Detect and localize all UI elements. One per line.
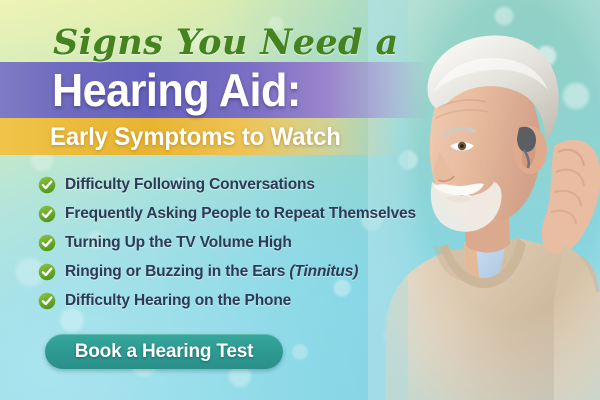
- list-item-label: Difficulty Hearing on the Phone: [65, 292, 291, 310]
- list-item-label-emphasis: (Tinnitus): [289, 263, 358, 280]
- list-item: Turning Up the TV Volume High: [38, 228, 416, 257]
- list-item: Difficulty Following Conversations: [38, 170, 416, 199]
- list-item: Difficulty Hearing on the Phone: [38, 286, 416, 315]
- hearing-aid-promo-banner: Signs You Need a Hearing Aid: Early Symp…: [0, 0, 600, 400]
- list-item-label: Turning Up the TV Volume High: [65, 234, 292, 252]
- list-item-label: Ringing or Buzzing in the Ears (Tinnitus…: [65, 263, 358, 281]
- list-item: Ringing or Buzzing in the Ears (Tinnitus…: [38, 257, 416, 286]
- list-item: Frequently Asking People to Repeat Thems…: [38, 199, 416, 228]
- book-hearing-test-button[interactable]: Book a Hearing Test: [45, 334, 283, 369]
- list-item-label: Frequently Asking People to Repeat Thems…: [65, 205, 416, 223]
- list-item-label-text: Ringing or Buzzing in the Ears: [65, 263, 289, 280]
- check-circle-icon: [38, 176, 56, 194]
- symptoms-list: Difficulty Following Conversations Frequ…: [38, 170, 416, 315]
- sub-headline: Early Symptoms to Watch: [50, 120, 341, 154]
- script-headline: Signs You Need a: [53, 23, 399, 63]
- check-circle-icon: [38, 205, 56, 223]
- check-circle-icon: [38, 292, 56, 310]
- check-circle-icon: [38, 263, 56, 281]
- check-circle-icon: [38, 234, 56, 252]
- list-item-label: Difficulty Following Conversations: [65, 176, 315, 194]
- main-headline: Hearing Aid:: [52, 62, 301, 118]
